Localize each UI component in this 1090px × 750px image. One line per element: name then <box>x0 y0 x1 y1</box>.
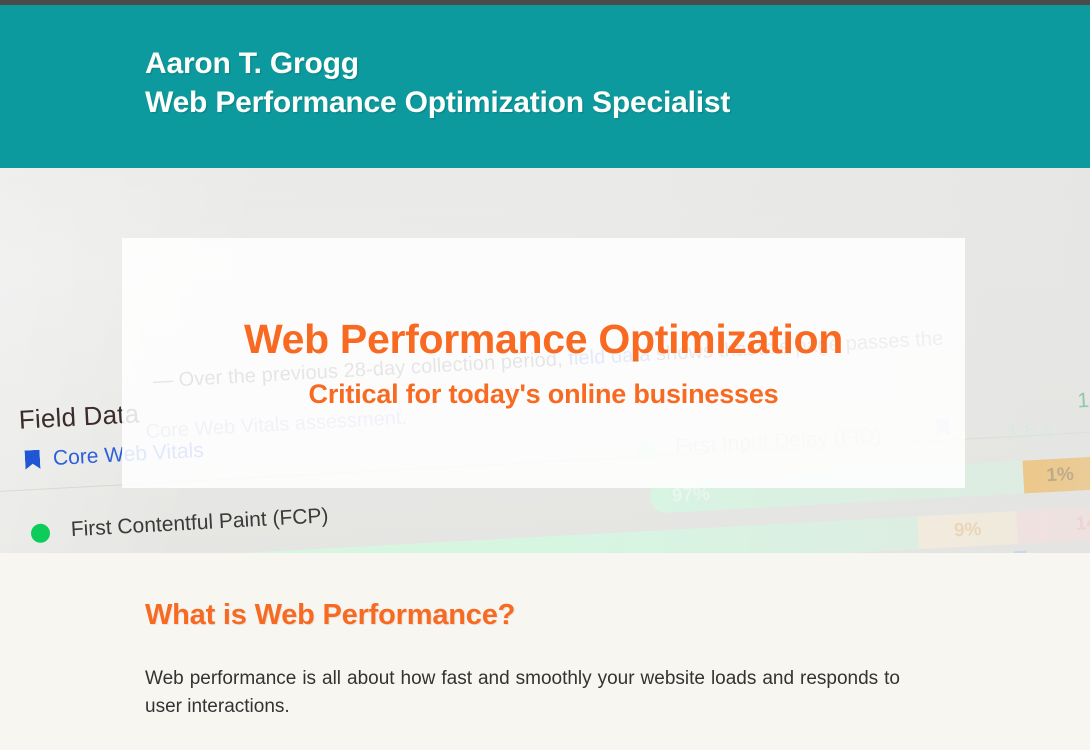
top-accent-strip <box>0 0 1090 5</box>
hero-subtitle: Critical for today's online businesses <box>309 379 779 410</box>
article-section: What is Web Performance? Web performance… <box>0 553 1090 750</box>
bookmark-flag-icon <box>25 450 41 470</box>
psi-metric-label-fcp: First Contentful Paint (FCP) <box>70 504 329 542</box>
hero-overlay-card: Web Performance Optimization Critical fo… <box>122 238 965 488</box>
psi-bar-segment-poor: 14% <box>1017 503 1090 544</box>
psi-metric-value-fid: 12 ms <box>1077 386 1090 413</box>
hero-title: Web Performance Optimization <box>244 316 843 363</box>
psi-bar-segment-needs-improvement: 9% <box>917 511 1018 549</box>
page-root: Aaron T. Grogg Web Performance Optimizat… <box>0 0 1090 750</box>
site-author-name: Aaron T. Grogg <box>145 45 730 83</box>
psi-status-dot-fcp <box>31 523 51 543</box>
article-paragraph: Web performance is all about how fast an… <box>145 665 900 721</box>
psi-bar-segment-needs-improvement: 1% <box>1023 457 1090 494</box>
hero-section: Field Data Core Web Vitals — Over the pr… <box>0 168 1090 553</box>
article-inner: What is Web Performance? Web performance… <box>0 553 900 721</box>
psi-metric-value-fcp: 1.6 s <box>1006 419 1053 445</box>
site-tagline: Web Performance Optimization Specialist <box>145 83 730 123</box>
article-heading: What is Web Performance? <box>145 599 900 632</box>
masthead-text-block: Aaron T. Grogg Web Performance Optimizat… <box>145 45 730 123</box>
site-masthead: Aaron T. Grogg Web Performance Optimizat… <box>0 5 1090 168</box>
